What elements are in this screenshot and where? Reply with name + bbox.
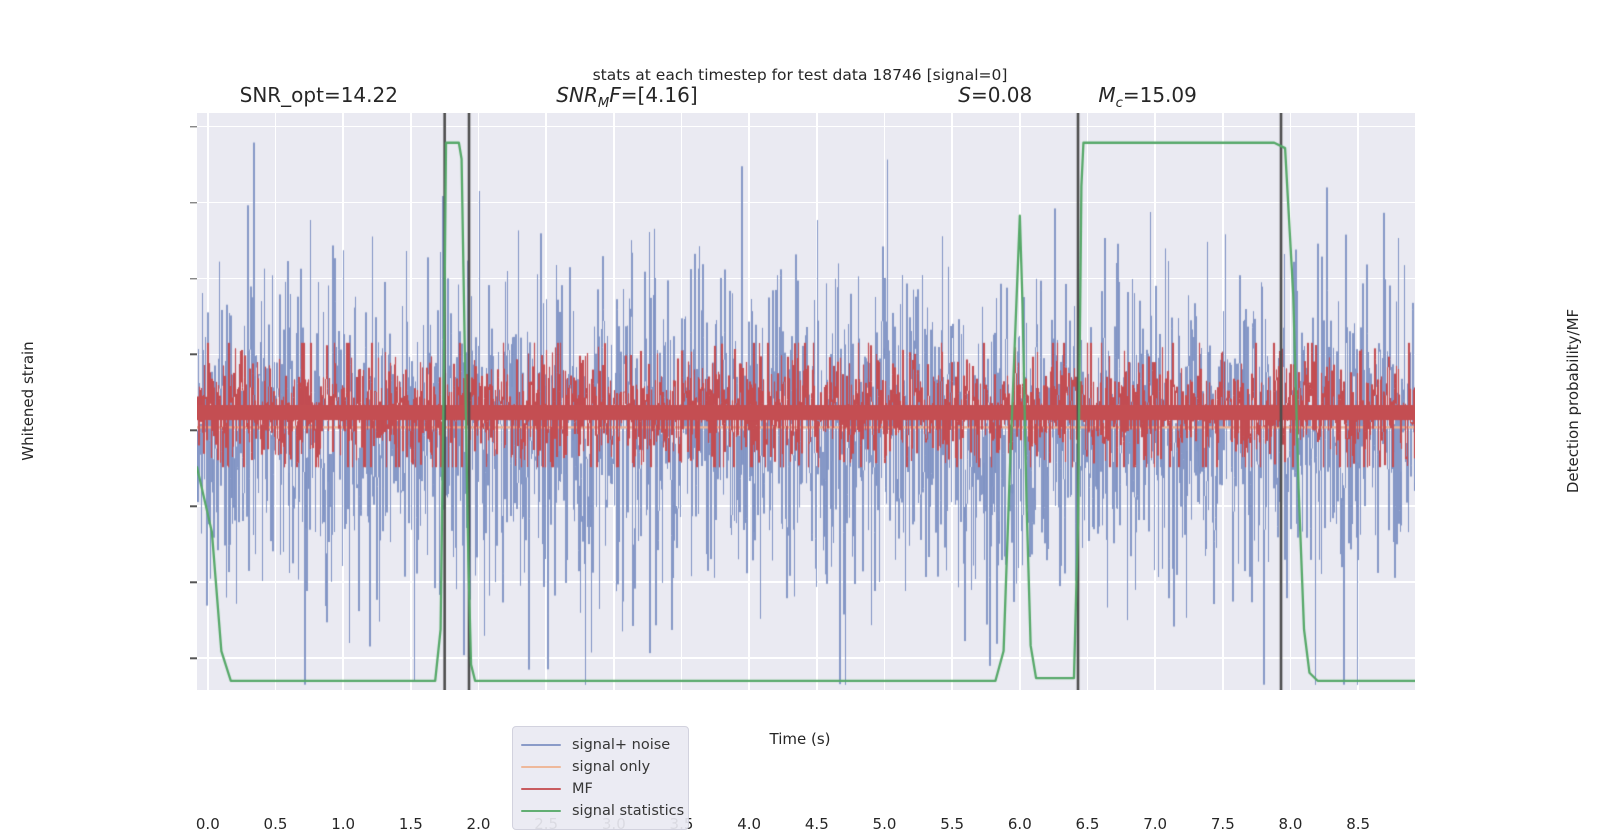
- x-tick-label: 2.0: [467, 815, 491, 833]
- figure: stats at each timestep for test data 187…: [0, 0, 1600, 800]
- legend-label: MF: [572, 781, 593, 797]
- y-tick-mark-left: [190, 354, 197, 355]
- axes-canvas: [197, 113, 1415, 690]
- plot-area: 0.00.51.01.52.02.53.03.54.04.55.05.56.06…: [197, 113, 1415, 690]
- x-tick-label: 0.5: [264, 815, 288, 833]
- x-tick-label: 0.0: [196, 815, 220, 833]
- legend-item-3[interactable]: signal statistics: [521, 800, 679, 822]
- y-axis-label-left: Whitened strain: [19, 341, 37, 460]
- y-tick-mark-left: [190, 430, 197, 431]
- x-tick-label: 5.5: [940, 815, 964, 833]
- legend-item-2[interactable]: MF: [521, 778, 679, 800]
- y-tick-mark-left: [190, 126, 197, 127]
- y-axis-label-right: Detection probability/MF: [1564, 309, 1582, 493]
- y-tick-mark-left: [190, 506, 197, 507]
- y-tick-mark-left: [190, 202, 197, 203]
- y-tick-mark-left: [190, 657, 197, 658]
- x-tick-label: 6.0: [1008, 815, 1032, 833]
- y-tick-mark-left: [190, 581, 197, 582]
- x-tick-label: 8.5: [1346, 815, 1370, 833]
- annotation-chirp-mass: Mc=15.09: [1098, 83, 1197, 111]
- x-tick-label: 4.5: [805, 815, 829, 833]
- legend-item-1[interactable]: signal only: [521, 756, 679, 778]
- legend-swatch-icon: [521, 744, 561, 747]
- legend-swatch-icon: [521, 766, 561, 769]
- legend-label: signal statistics: [572, 803, 684, 819]
- x-tick-label: 8.0: [1279, 815, 1303, 833]
- chart-title: stats at each timestep for test data 187…: [0, 66, 1600, 84]
- x-axis-label: Time (s): [770, 730, 831, 748]
- x-tick-label: 5.0: [873, 815, 897, 833]
- y-tick-mark-left: [190, 278, 197, 279]
- legend[interactable]: signal+ noisesignal onlyMFsignal statist…: [512, 726, 689, 830]
- x-tick-label: 7.5: [1211, 815, 1235, 833]
- x-tick-label: 1.0: [331, 815, 355, 833]
- x-tick-label: 6.5: [1076, 815, 1100, 833]
- x-tick-label: 4.0: [737, 815, 761, 833]
- legend-swatch-icon: [521, 788, 561, 791]
- x-tick-label: 1.5: [399, 815, 423, 833]
- legend-swatch-icon: [521, 810, 561, 813]
- legend-label: signal only: [572, 759, 650, 775]
- annotation-s-stat: S=0.08: [958, 83, 1032, 107]
- annotation-snr-mf: SNRMF=[4.16]: [556, 83, 697, 111]
- legend-item-0[interactable]: signal+ noise: [521, 734, 679, 756]
- annotation-snr-opt: SNR_opt=14.22: [240, 83, 398, 107]
- x-tick-label: 7.0: [1143, 815, 1167, 833]
- data-canvas: [197, 113, 1415, 690]
- legend-label: signal+ noise: [572, 737, 670, 753]
